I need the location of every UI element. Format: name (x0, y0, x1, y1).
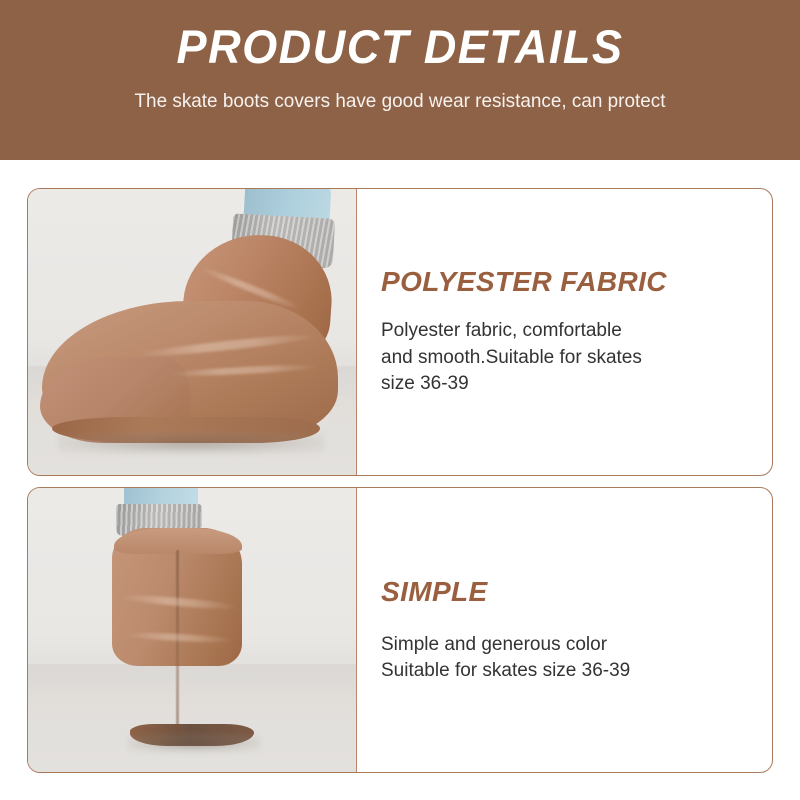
feature-title: POLYESTER FABRIC (381, 266, 758, 298)
feature-text-block: POLYESTER FABRIC Polyester fabric, comfo… (357, 189, 772, 475)
product-photo-side-view (28, 189, 357, 475)
feature-card-simple: SIMPLE Simple and generous color Suitabl… (27, 487, 773, 773)
boot-cover-shadow (58, 432, 324, 454)
product-photo-front-view (28, 488, 357, 772)
page-title: PRODUCT DETAILS (16, 21, 784, 73)
feature-card-polyester-fabric: POLYESTER FABRIC Polyester fabric, comfo… (27, 188, 773, 476)
feature-description: Polyester fabric, comfortable and smooth… (381, 318, 758, 398)
feature-text-block: SIMPLE Simple and generous color Suitabl… (357, 488, 772, 772)
boot-cover-shadow (128, 734, 260, 752)
feature-description: Simple and generous color Suitable for s… (381, 632, 758, 685)
boot-cover-seam-line (176, 550, 179, 736)
page-subtitle: The skate boots covers have good wear re… (12, 88, 788, 114)
feature-title: SIMPLE (381, 576, 758, 608)
product-details-banner: PRODUCT DETAILS The skate boots covers h… (0, 0, 800, 160)
